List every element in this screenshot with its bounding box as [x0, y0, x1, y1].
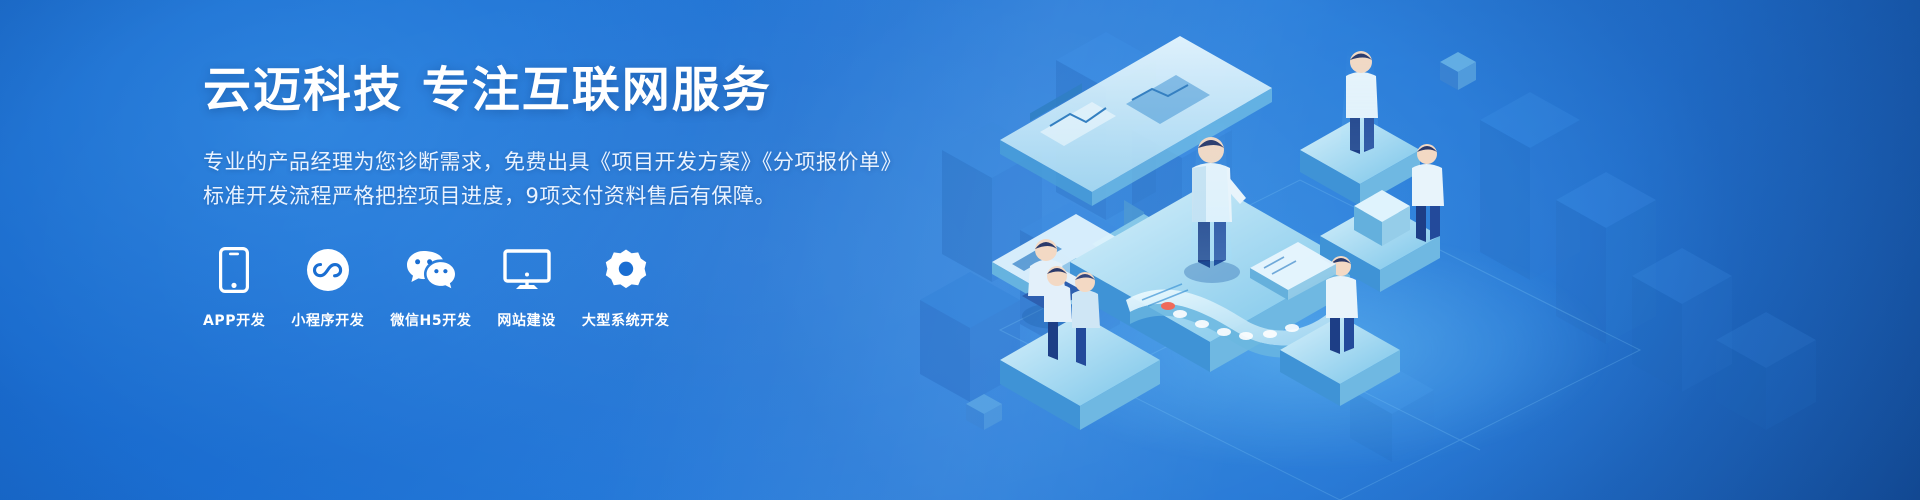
- banner-subtitle: 专业的产品经理为您诊断需求，免费出具《项目开发方案》《分项报价单》 标准开发流程…: [203, 145, 983, 213]
- service-item-app[interactable]: APP开发: [203, 247, 265, 330]
- service-label: 网站建设: [497, 310, 555, 330]
- promo-banner: 云迈科技 专注互联网服务 专业的产品经理为您诊断需求，免费出具《项目开发方案》《…: [0, 0, 1920, 500]
- smartphone-icon: [219, 247, 249, 293]
- service-item-mini-program[interactable]: 小程序开发: [291, 247, 364, 330]
- page-title: 云迈科技 专注互联网服务: [203, 62, 983, 119]
- service-item-wechat[interactable]: 微信H5开发: [390, 247, 471, 330]
- service-item-large-system[interactable]: 大型系统开发: [582, 247, 670, 330]
- subtitle-line-2: 标准开发流程严格把控项目进度，9项交付资料售后有保障。: [203, 179, 983, 213]
- banner-content: 云迈科技 专注互联网服务 专业的产品经理为您诊断需求，免费出具《项目开发方案》《…: [203, 62, 983, 330]
- service-list: APP开发 小程序开发: [203, 247, 983, 330]
- subtitle-line-1: 专业的产品经理为您诊断需求，免费出具《项目开发方案》《分项报价单》: [203, 145, 983, 179]
- service-item-website[interactable]: 网站建设: [497, 247, 555, 330]
- service-label: 微信H5开发: [390, 310, 471, 330]
- service-label: 小程序开发: [291, 310, 364, 330]
- service-label: 大型系统开发: [582, 310, 670, 330]
- wechat-icon: [405, 247, 457, 293]
- isometric-illustration: [880, 0, 1920, 500]
- gear-icon: [604, 247, 648, 293]
- service-label: APP开发: [203, 310, 265, 330]
- mini-program-icon: [306, 247, 350, 293]
- monitor-icon: [503, 247, 551, 293]
